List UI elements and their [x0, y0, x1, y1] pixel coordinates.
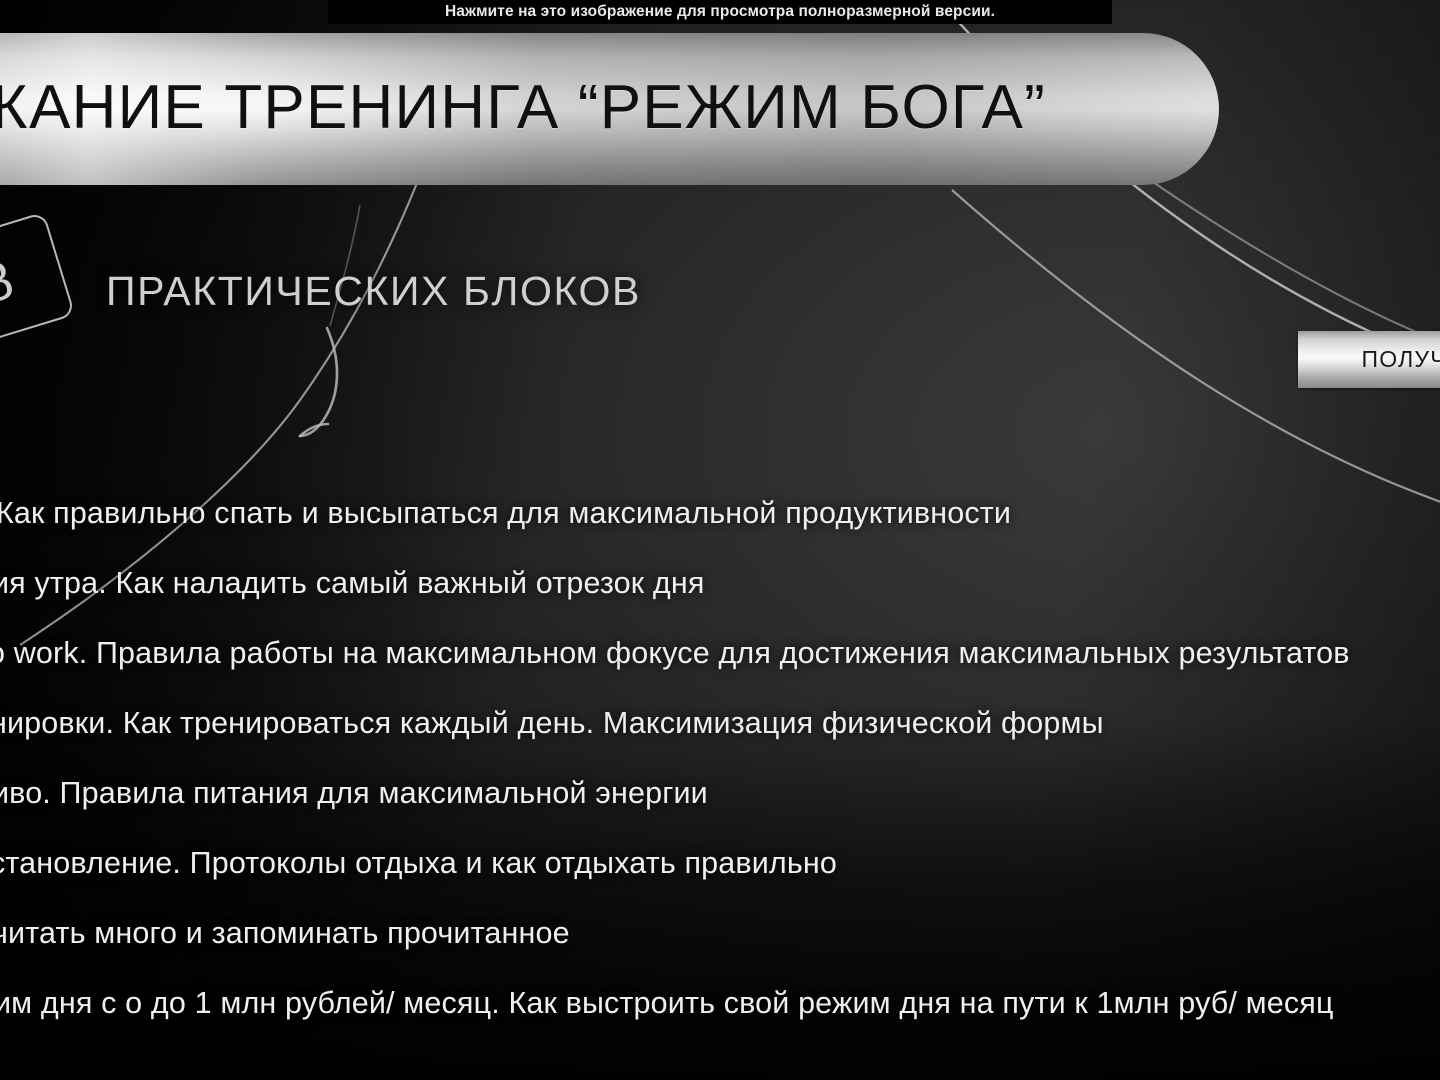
list-item: читать много и запоминать прочитанное — [0, 898, 1440, 968]
slide-screen: 8 ДЕРЖАНИЕ ТРЕНИНГА “РЕЖИМ БОГА” ПРАКТИЧ… — [0, 0, 1440, 1080]
list-item: Как правильно спать и высыпаться для мак… — [0, 478, 1440, 548]
list-item-text: Как правильно спать и высыпаться для мак… — [0, 496, 1011, 531]
training-content-list: Как правильно спать и высыпаться для мак… — [0, 478, 1440, 1038]
list-item-text: им дня с о до 1 млн рублей/ месяц. Как в… — [0, 986, 1334, 1021]
page-title: ДЕРЖАНИЕ ТРЕНИНГА “РЕЖИМ БОГА” — [0, 72, 1219, 143]
list-item: o work. Правила работы на максимальном ф… — [0, 618, 1440, 688]
list-item: ия утра. Как наладить самый важный отрез… — [0, 548, 1440, 618]
list-item-text: o work. Правила работы на максимальном ф… — [0, 636, 1350, 671]
fullsize-image-notice[interactable]: Нажмите на это изображение для просмотра… — [328, 0, 1112, 24]
list-item-text: ия утра. Как наладить самый важный отрез… — [0, 566, 705, 601]
list-item-text: становление. Протоколы отдыха и как отды… — [0, 846, 837, 881]
list-item-text: нировки. Как тренироваться каждый день. … — [0, 706, 1104, 741]
list-item: иво. Правила питания для максимальной эн… — [0, 758, 1440, 828]
list-item-text: иво. Правила питания для максимальной эн… — [0, 776, 708, 811]
list-item: им дня с о до 1 млн рублей/ месяц. Как в… — [0, 968, 1440, 1038]
get-access-button-label: ПОЛУЧИ — [1362, 346, 1440, 373]
slide-title-pill: ДЕРЖАНИЕ ТРЕНИНГА “РЕЖИМ БОГА” — [0, 33, 1219, 185]
list-item-text: читать много и запоминать прочитанное — [0, 916, 570, 951]
badge-number-label: 8 — [0, 249, 19, 317]
slide-subtitle: ПРАКТИЧЕСКИХ БЛОКОВ — [106, 268, 641, 315]
list-item: становление. Протоколы отдыха и как отды… — [0, 828, 1440, 898]
fullsize-image-notice-text: Нажмите на это изображение для просмотра… — [445, 3, 995, 21]
list-item: нировки. Как тренироваться каждый день. … — [0, 688, 1440, 758]
get-access-button[interactable]: ПОЛУЧИ — [1298, 331, 1440, 388]
